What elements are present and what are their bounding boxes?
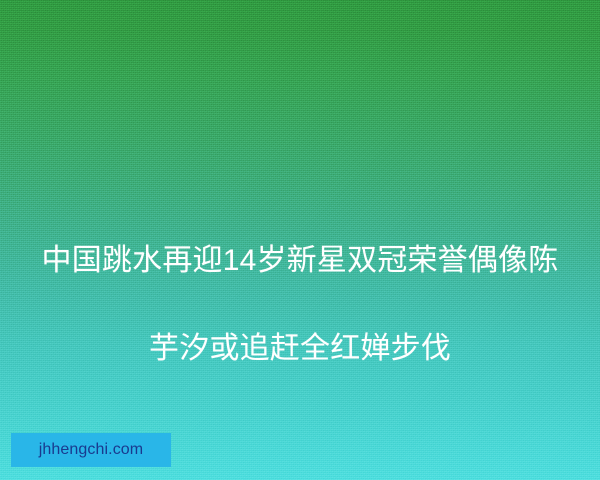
watermark-label: jhhengchi.com [39, 442, 143, 458]
poster-canvas: 中国跳水再迎14岁新星双冠荣誉偶像陈 芋汐或追赶全红婵步伐 jhhengchi.… [0, 0, 600, 480]
headline-line-1: 中国跳水再迎14岁新星双冠荣誉偶像陈 [26, 239, 574, 283]
headline-line-2: 芋汐或追赶全红婵步伐 [26, 327, 574, 371]
headline-text: 中国跳水再迎14岁新星双冠荣誉偶像陈 芋汐或追赶全红婵步伐 [0, 195, 600, 415]
watermark-badge[interactable]: jhhengchi.com [11, 433, 171, 467]
